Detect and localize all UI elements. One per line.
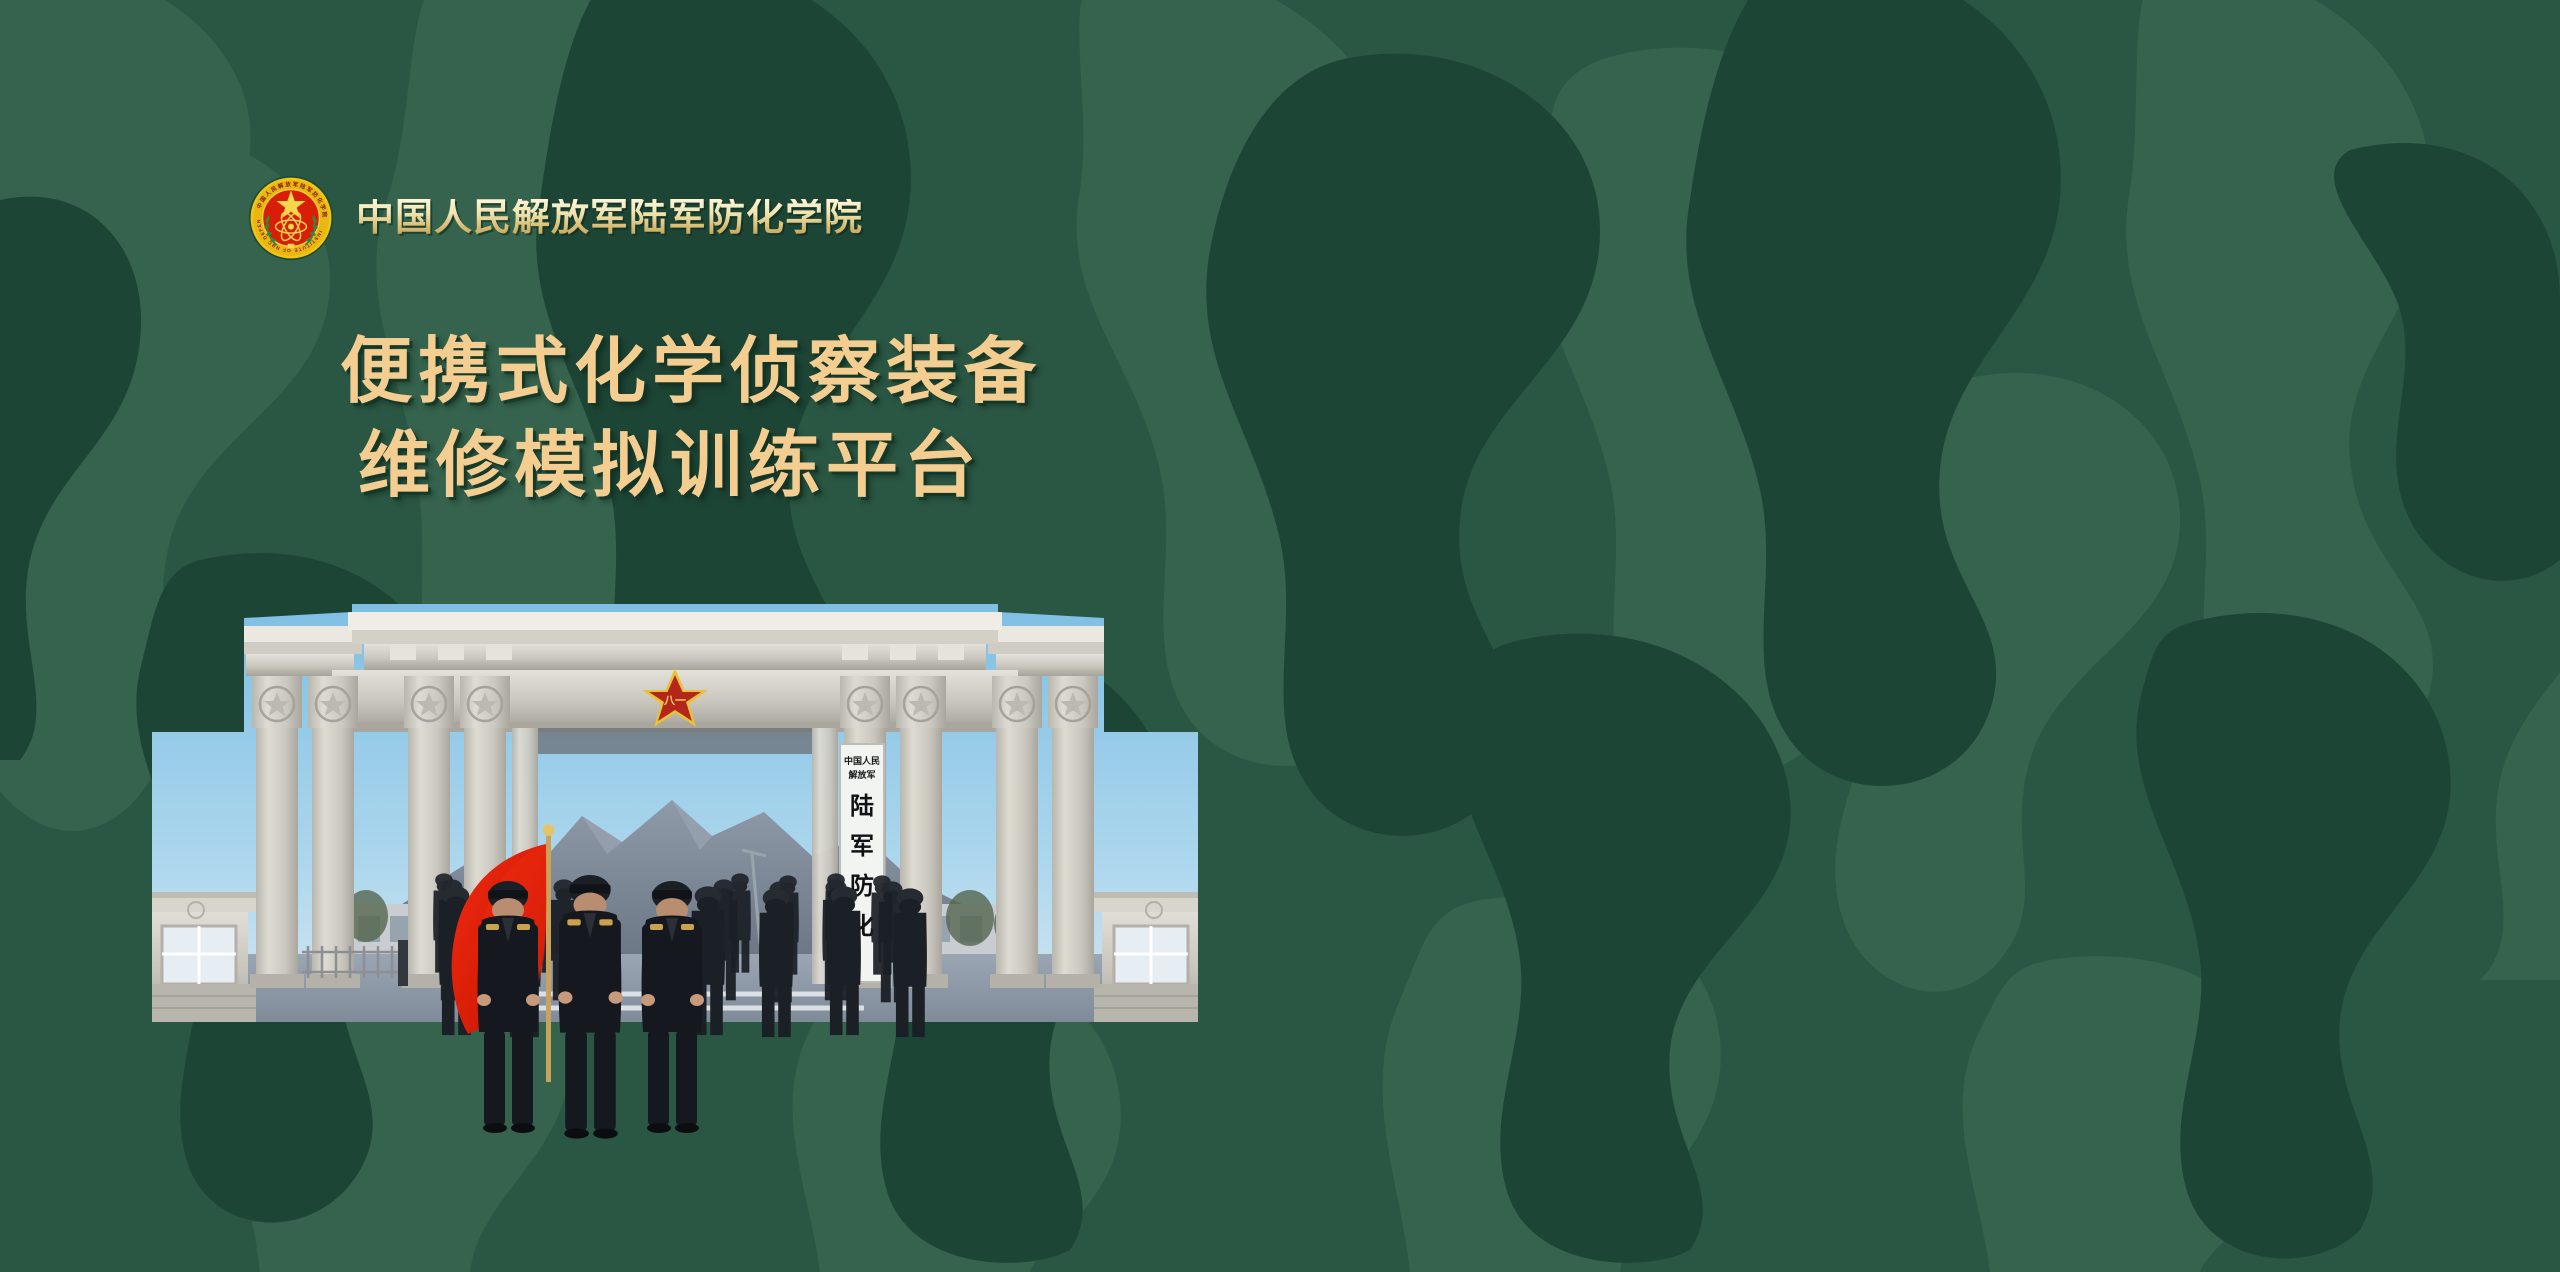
front-rank — [477, 875, 704, 1139]
svg-text:八一: 八一 — [663, 694, 686, 707]
page-title: 便携式化学侦察装备 维修模拟训练平台 — [332, 336, 1042, 502]
brand-row: 中国人民解放军陆军防化学院 INSTITUTE OF NBC DEFENCE — [248, 172, 863, 264]
page-title-line-1: 便携式化学侦察装备 — [340, 336, 1042, 408]
svg-text:军: 军 — [850, 832, 874, 860]
landing-page: 中国人民解放军陆军防化学院 INSTITUTE OF NBC DEFENCE — [0, 0, 2560, 1272]
page-title-line-2: 维修模拟训练平台 — [358, 430, 1042, 502]
institute-emblem-icon: 中国人民解放军陆军防化学院 INSTITUTE OF NBC DEFENCE — [248, 175, 334, 261]
svg-text:中国人民: 中国人民 — [844, 755, 880, 767]
hero-photo-campus-gate: 八一 — [152, 604, 1198, 1124]
svg-text:陆: 陆 — [850, 792, 874, 820]
institute-name: 中国人民解放军陆军防化学院 — [356, 199, 863, 237]
svg-text:解放军: 解放军 — [848, 769, 875, 781]
